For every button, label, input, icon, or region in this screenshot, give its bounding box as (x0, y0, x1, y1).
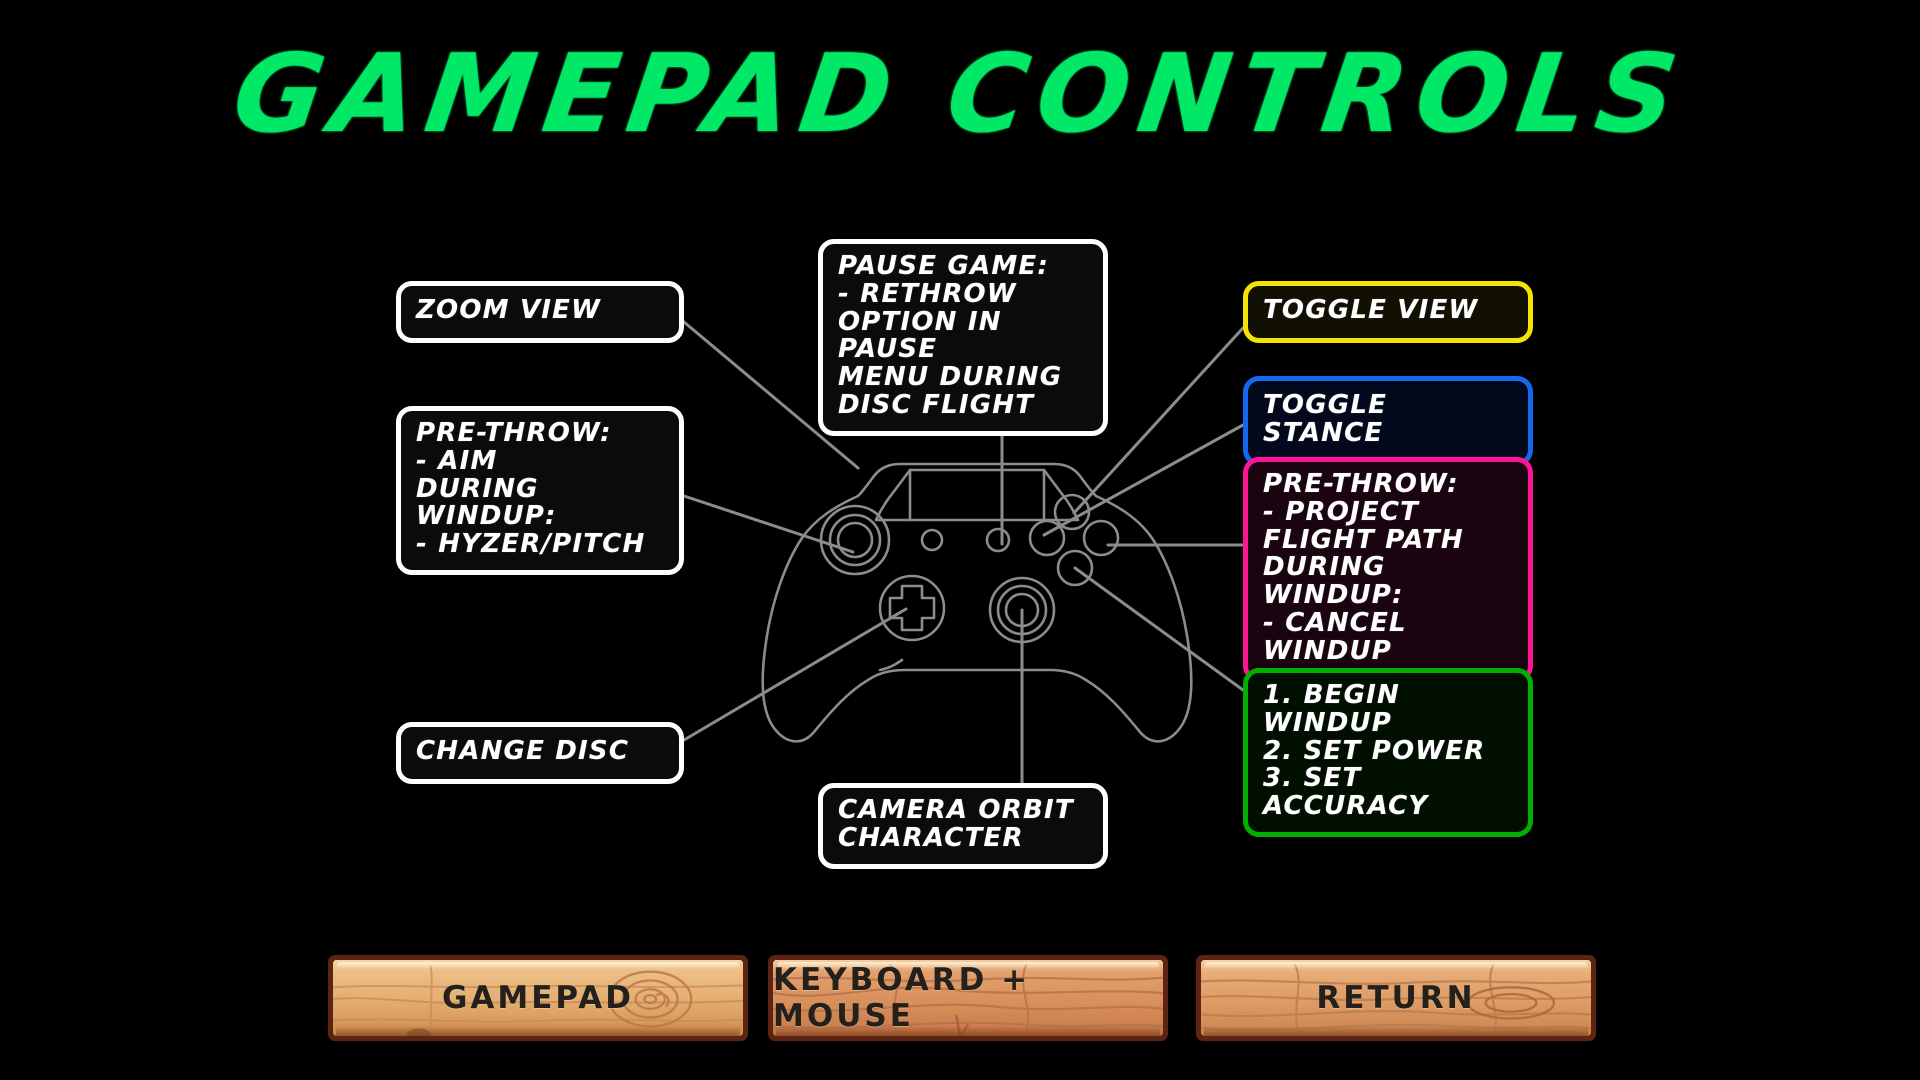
camera-orbit-label: CAMERA ORBIT CHARACTER (818, 783, 1108, 869)
a-button (1058, 551, 1092, 585)
pre-throw-project-label: PRE-THROW: - PROJECT FLIGHT PATH DURING … (1243, 457, 1533, 682)
pause-game-label: PAUSE GAME: - RETHROW OPTION IN PAUSE ME… (818, 239, 1108, 436)
return-button-label: RETURN (1201, 960, 1591, 1036)
controls-screen: GAMEPAD CONTROLS (0, 0, 1920, 1080)
keyboard-mouse-tab-label: KEYBOARD + MOUSE (773, 960, 1163, 1036)
gamepad-body-outline (763, 464, 1192, 741)
gamepad-tab-label: GAMEPAD (333, 960, 743, 1036)
gamepad-top-plate (910, 470, 1044, 520)
return-button[interactable]: RETURN (1196, 955, 1596, 1041)
right-stick-ring-inner (1006, 594, 1038, 626)
pre-throw-aim-label: PRE-THROW: - AIM DURING WINDUP: - HYZER/… (396, 406, 684, 575)
change-disc-label: CHANGE DISC (396, 722, 684, 784)
gamepad-illustration (740, 420, 1220, 780)
gamepad-lower-inner (880, 660, 902, 670)
windup-steps-label: 1. BEGIN WINDUP 2. SET POWER 3. SET ACCU… (1243, 668, 1533, 837)
right-stick-ring-outer (990, 578, 1054, 642)
left-stick-ring-inner (838, 523, 872, 557)
x-button (1030, 521, 1064, 555)
dpad-cross (890, 586, 934, 630)
menu-button (987, 529, 1009, 551)
zoom-view-label: ZOOM VIEW (396, 281, 684, 343)
gamepad-tab-button[interactable]: GAMEPAD (328, 955, 748, 1041)
keyboard-mouse-tab-button[interactable]: KEYBOARD + MOUSE (768, 955, 1168, 1041)
toggle-view-label: TOGGLE VIEW (1243, 281, 1533, 343)
page-title: GAMEPAD CONTROLS (0, 38, 1920, 151)
y-button (1055, 495, 1089, 529)
gamepad-shoulder-left (876, 470, 910, 520)
view-button (922, 530, 942, 550)
toggle-stance-label: TOGGLE STANCE (1243, 376, 1533, 466)
footer-button-bar: GAMEPAD KEYBOARD + MOUSE (0, 955, 1920, 1065)
b-button (1084, 521, 1118, 555)
